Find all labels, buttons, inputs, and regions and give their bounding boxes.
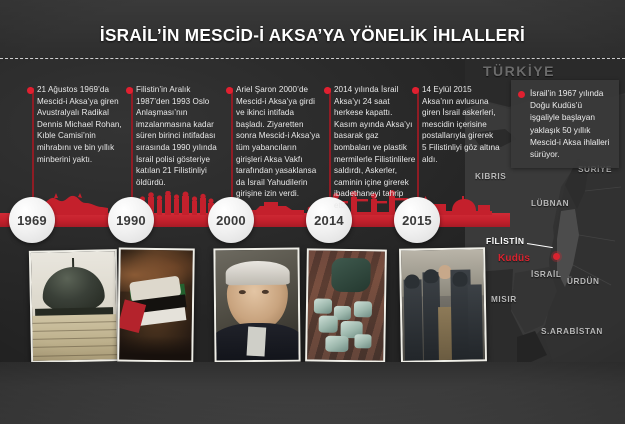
photo-ariel-sharon-portrait xyxy=(213,248,300,363)
map-label-kibris: KIBRIS xyxy=(475,172,506,181)
timeline-year-1990[interactable]: 1990 xyxy=(108,197,154,243)
timeline-entry-text: 14 Eylül 2015 Aksa’nın avlusuna giren İs… xyxy=(422,84,500,165)
map-label-turkiye: TÜRKİYE xyxy=(483,63,555,79)
bullet-dot-icon xyxy=(27,87,34,94)
header-divider xyxy=(0,58,625,59)
bullet-dot-icon xyxy=(126,87,133,94)
bullet-dot-icon xyxy=(412,87,419,94)
bullet-dot-icon xyxy=(324,87,331,94)
footer-area xyxy=(0,362,625,424)
timeline-entry-text: Filistin’in Aralık 1987’den 1993 Oslo An… xyxy=(136,84,224,188)
map-label-urdun: ÜRDÜN xyxy=(567,277,600,286)
timeline-entry-2015: 14 Eylül 2015 Aksa’nın avlusuna giren İs… xyxy=(412,84,500,165)
photo-israeli-police-detention xyxy=(399,247,487,362)
bullet-dot-icon xyxy=(226,87,233,94)
infographic-canvas: TÜRKİYE KIBRIS SURİYE LÜBNAN FİLİSTİN Ku… xyxy=(0,0,625,424)
timeline-entry-text: Ariel Şaron 2000’de Mescid-i Aksa’ya gir… xyxy=(236,84,324,200)
timeline-entry-text: 2014 yılında İsrail Aksa’yı 24 saat herk… xyxy=(334,84,416,212)
timeline-entry-text: 21 Ağustos 1969’da Mescid-i Aksa’ya gire… xyxy=(37,84,123,165)
photo-funeral-palestinian-flag xyxy=(117,247,195,362)
timeline-entry-1990: Filistin’in Aralık 1987’den 1993 Oslo An… xyxy=(126,84,224,188)
map-info-box: İsrail’in 1967 yılında Doğu Kudüs’ü işga… xyxy=(511,80,619,168)
map-info-text: İsrail’in 1967 yılında Doğu Kudüs’ü işga… xyxy=(530,87,611,160)
timeline-entry-2014: 2014 yılında İsrail Aksa’yı 24 saat herk… xyxy=(324,84,416,212)
page-title: İSRAİL’İN MESCİD-İ AKSA’YA YÖNELİK İHLAL… xyxy=(6,25,619,46)
timeline-entry-1969: 21 Ağustos 1969’da Mescid-i Aksa’ya gire… xyxy=(27,84,123,165)
timeline-entry-2000: Ariel Şaron 2000’de Mescid-i Aksa’ya gir… xyxy=(226,84,324,200)
map-label-kudus: Kudüs xyxy=(498,253,530,264)
photo-dome-of-the-rock xyxy=(29,249,119,363)
timeline-year-2000[interactable]: 2000 xyxy=(208,197,254,243)
bullet-dot-icon xyxy=(518,91,525,98)
kudus-marker-dot xyxy=(553,253,560,260)
map-label-sarabistan: S.ARABİSTAN xyxy=(541,327,603,336)
map-label-misir: MISIR xyxy=(491,295,517,304)
photo-mosque-debris xyxy=(305,248,387,362)
map-label-filistin: FİLİSTİN xyxy=(486,236,524,246)
header-bar: İSRAİL’İN MESCİD-İ AKSA’YA YÖNELİK İHLAL… xyxy=(0,0,625,58)
map-label-israil: İSRAİL xyxy=(531,270,561,279)
timeline-year-1969[interactable]: 1969 xyxy=(9,197,55,243)
map-label-lubnan: LÜBNAN xyxy=(531,199,569,208)
